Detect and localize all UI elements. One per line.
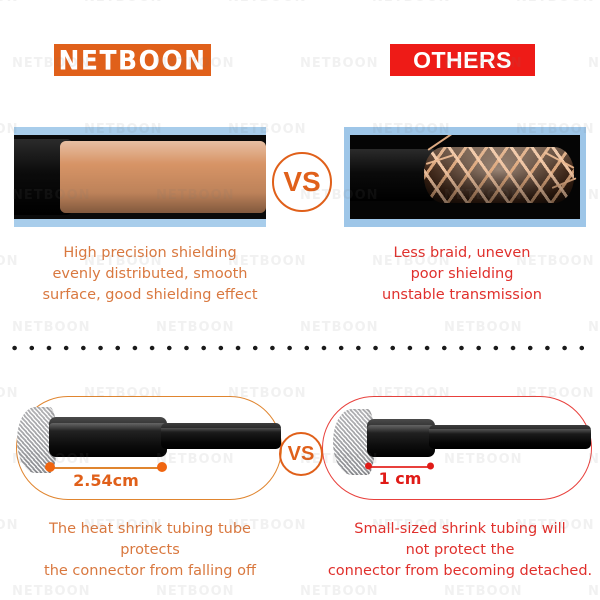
watermark-text: NETBOON — [588, 320, 600, 335]
watermark-text: NETBOON — [0, 254, 19, 269]
caption-line: surface, good shielding effect — [18, 285, 282, 306]
vs-badge-top-label: VS — [283, 166, 320, 198]
watermark-text: NETBOON — [0, 386, 19, 401]
caption-line: the connector from falling off — [14, 561, 286, 582]
caption-line: not protect the — [322, 540, 598, 561]
caption-line: Less braid, uneven — [330, 243, 594, 264]
caption-line: poor shielding — [330, 264, 594, 285]
watermark-text: NETBOON — [0, 0, 19, 5]
netboon-tubing-panel: 2.54cm — [16, 396, 282, 500]
cable-body-right — [429, 425, 591, 449]
caption-line: connector from becoming detached. — [322, 561, 598, 582]
caption-line: protects — [14, 540, 286, 561]
caption-line: High precision shielding — [18, 243, 282, 264]
caption-line: evenly distributed, smooth — [18, 264, 282, 285]
others-banner: OTHERS — [390, 44, 535, 76]
netboon-logo-text: NETBOON — [58, 47, 206, 73]
vs-badge-top: VS — [272, 152, 332, 212]
watermark-text: NETBOON — [300, 320, 379, 335]
caption-line: unstable transmission — [330, 285, 594, 306]
caption-line: Small-sized shrink tubing will — [322, 519, 598, 540]
others-shielding-caption: Less braid, uneven poor shielding unstab… — [330, 243, 594, 306]
measurement-label-left: 2.54cm — [45, 471, 167, 490]
watermark-text: NETBOON — [228, 0, 307, 5]
caption-line: The heat shrink tubing tube — [14, 519, 286, 540]
watermark-text: NETBOON — [444, 584, 523, 599]
watermark-text: NETBOON — [372, 0, 451, 5]
netboon-shielding-caption: High precision shielding evenly distribu… — [18, 243, 282, 306]
others-tubing-panel: 1 cm — [322, 396, 592, 500]
watermark-text: NETBOON — [156, 584, 235, 599]
heat-shrink-tubing-right — [367, 419, 435, 457]
infographic-page: NETBOON OTHERS VS High precision shieldi… — [0, 0, 600, 600]
others-label-text: OTHERS — [413, 49, 512, 72]
cable-body-left — [161, 423, 281, 449]
watermark-text: NETBOON — [156, 320, 235, 335]
watermark-text: NETBOON — [300, 56, 379, 71]
others-shielding-photo — [344, 127, 586, 227]
sparse-braid-texture — [424, 147, 574, 203]
watermark-text: NETBOON — [588, 56, 600, 71]
dense-braid-texture — [60, 141, 266, 213]
others-shielding-photo-inner — [350, 135, 580, 219]
heat-shrink-tubing-left — [49, 417, 167, 457]
watermark-text: NETBOON — [444, 320, 523, 335]
measurement-label-right: 1 cm — [357, 469, 443, 488]
watermark-text: NETBOON — [12, 320, 91, 335]
vs-badge-bottom: VS — [279, 432, 323, 476]
watermark-text: NETBOON — [516, 0, 595, 5]
watermark-text: NETBOON — [588, 188, 600, 203]
netboon-shielding-photo-inner — [14, 135, 266, 219]
netboon-tubing-caption: The heat shrink tubing tube protects the… — [14, 519, 286, 582]
watermark-text: NETBOON — [12, 584, 91, 599]
watermark-text: NETBOON — [588, 584, 600, 599]
netboon-shielding-photo — [14, 127, 266, 227]
section-divider — [6, 345, 594, 351]
vs-badge-bottom-label: VS — [288, 443, 315, 466]
watermark-text: NETBOON — [300, 584, 379, 599]
watermark-text: NETBOON — [84, 0, 163, 5]
others-tubing-caption: Small-sized shrink tubing will not prote… — [322, 519, 598, 582]
netboon-brand-banner: NETBOON — [54, 44, 211, 76]
